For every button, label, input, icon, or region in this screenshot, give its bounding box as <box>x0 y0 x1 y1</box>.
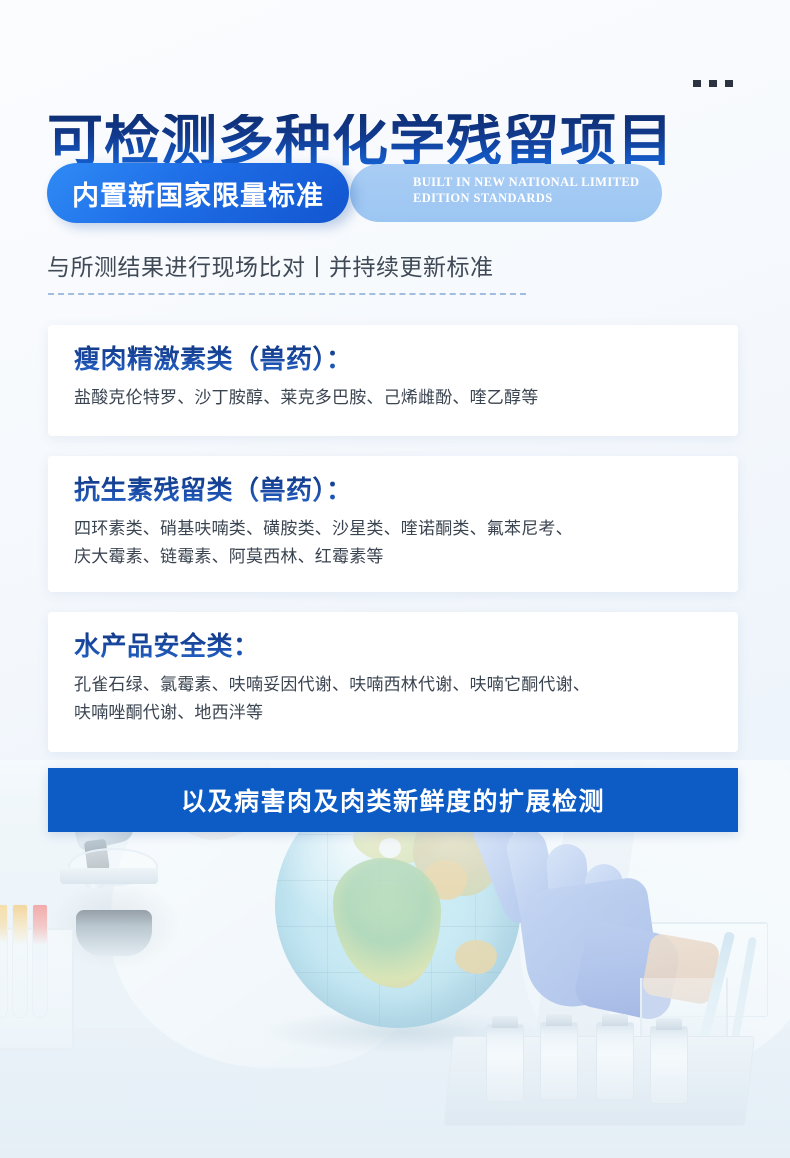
ellipsis-dots-icon <box>693 80 733 87</box>
category-heading: 水产品安全类： <box>74 632 712 663</box>
badge-chinese: 内置新国家限量标准 <box>47 163 349 223</box>
badge-english-line1: BUILT IN NEW NATIONAL LIMITED <box>413 174 662 190</box>
category-card: 水产品安全类： 孔雀石绿、氯霉素、呋喃妥因代谢、呋喃西林代谢、呋喃它酮代谢、 呋… <box>48 612 738 752</box>
category-heading: 瘦肉精激素类（兽药）： <box>74 345 712 376</box>
badge-chinese-label: 内置新国家限量标准 <box>72 174 324 213</box>
promo-page: 可检测多种化学残留项目 BUILT IN NEW NATIONAL LIMITE… <box>0 0 790 1158</box>
category-card: 瘦肉精激素类（兽药）： 盐酸克伦特罗、沙丁胺醇、莱克多巴胺、己烯雌酚、喹乙醇等 <box>48 325 738 436</box>
badge-row: BUILT IN NEW NATIONAL LIMITED EDITION ST… <box>47 163 747 223</box>
page-title: 可检测多种化学残留项目 <box>47 114 674 170</box>
badge-english: BUILT IN NEW NATIONAL LIMITED EDITION ST… <box>350 164 662 222</box>
category-card: 抗生素残留类（兽药）： 四环素类、硝基呋喃类、磺胺类、沙星类、喹诺酮类、氟苯尼考… <box>48 456 738 592</box>
content-layer: 可检测多种化学残留项目 BUILT IN NEW NATIONAL LIMITE… <box>0 0 790 1158</box>
category-card-list: 瘦肉精激素类（兽药）： 盐酸克伦特罗、沙丁胺醇、莱克多巴胺、己烯雌酚、喹乙醇等 … <box>48 325 738 752</box>
category-body-line: 庆大霉素、链霉素、阿莫西林、红霉素等 <box>74 543 712 572</box>
category-body-line: 孔雀石绿、氯霉素、呋喃妥因代谢、呋喃西林代谢、呋喃它酮代谢、 <box>74 671 712 700</box>
page-subtitle: 与所测结果进行现场比对丨并持续更新标准 <box>47 248 494 282</box>
category-body-line: 呋喃唑酮代谢、地西泮等 <box>74 699 712 728</box>
footer-highlight-text: 以及病害肉及肉类新鲜度的扩展检测 <box>181 782 605 818</box>
badge-english-line2: EDITION STANDARDS <box>413 190 662 206</box>
category-body-line: 盐酸克伦特罗、沙丁胺醇、莱克多巴胺、己烯雌酚、喹乙醇等 <box>74 384 712 413</box>
category-body-line: 四环素类、硝基呋喃类、磺胺类、沙星类、喹诺酮类、氟苯尼考、 <box>74 515 712 544</box>
footer-highlight-bar: 以及病害肉及肉类新鲜度的扩展检测 <box>48 768 738 832</box>
category-heading: 抗生素残留类（兽药）： <box>74 476 712 507</box>
dashed-divider <box>48 293 526 295</box>
